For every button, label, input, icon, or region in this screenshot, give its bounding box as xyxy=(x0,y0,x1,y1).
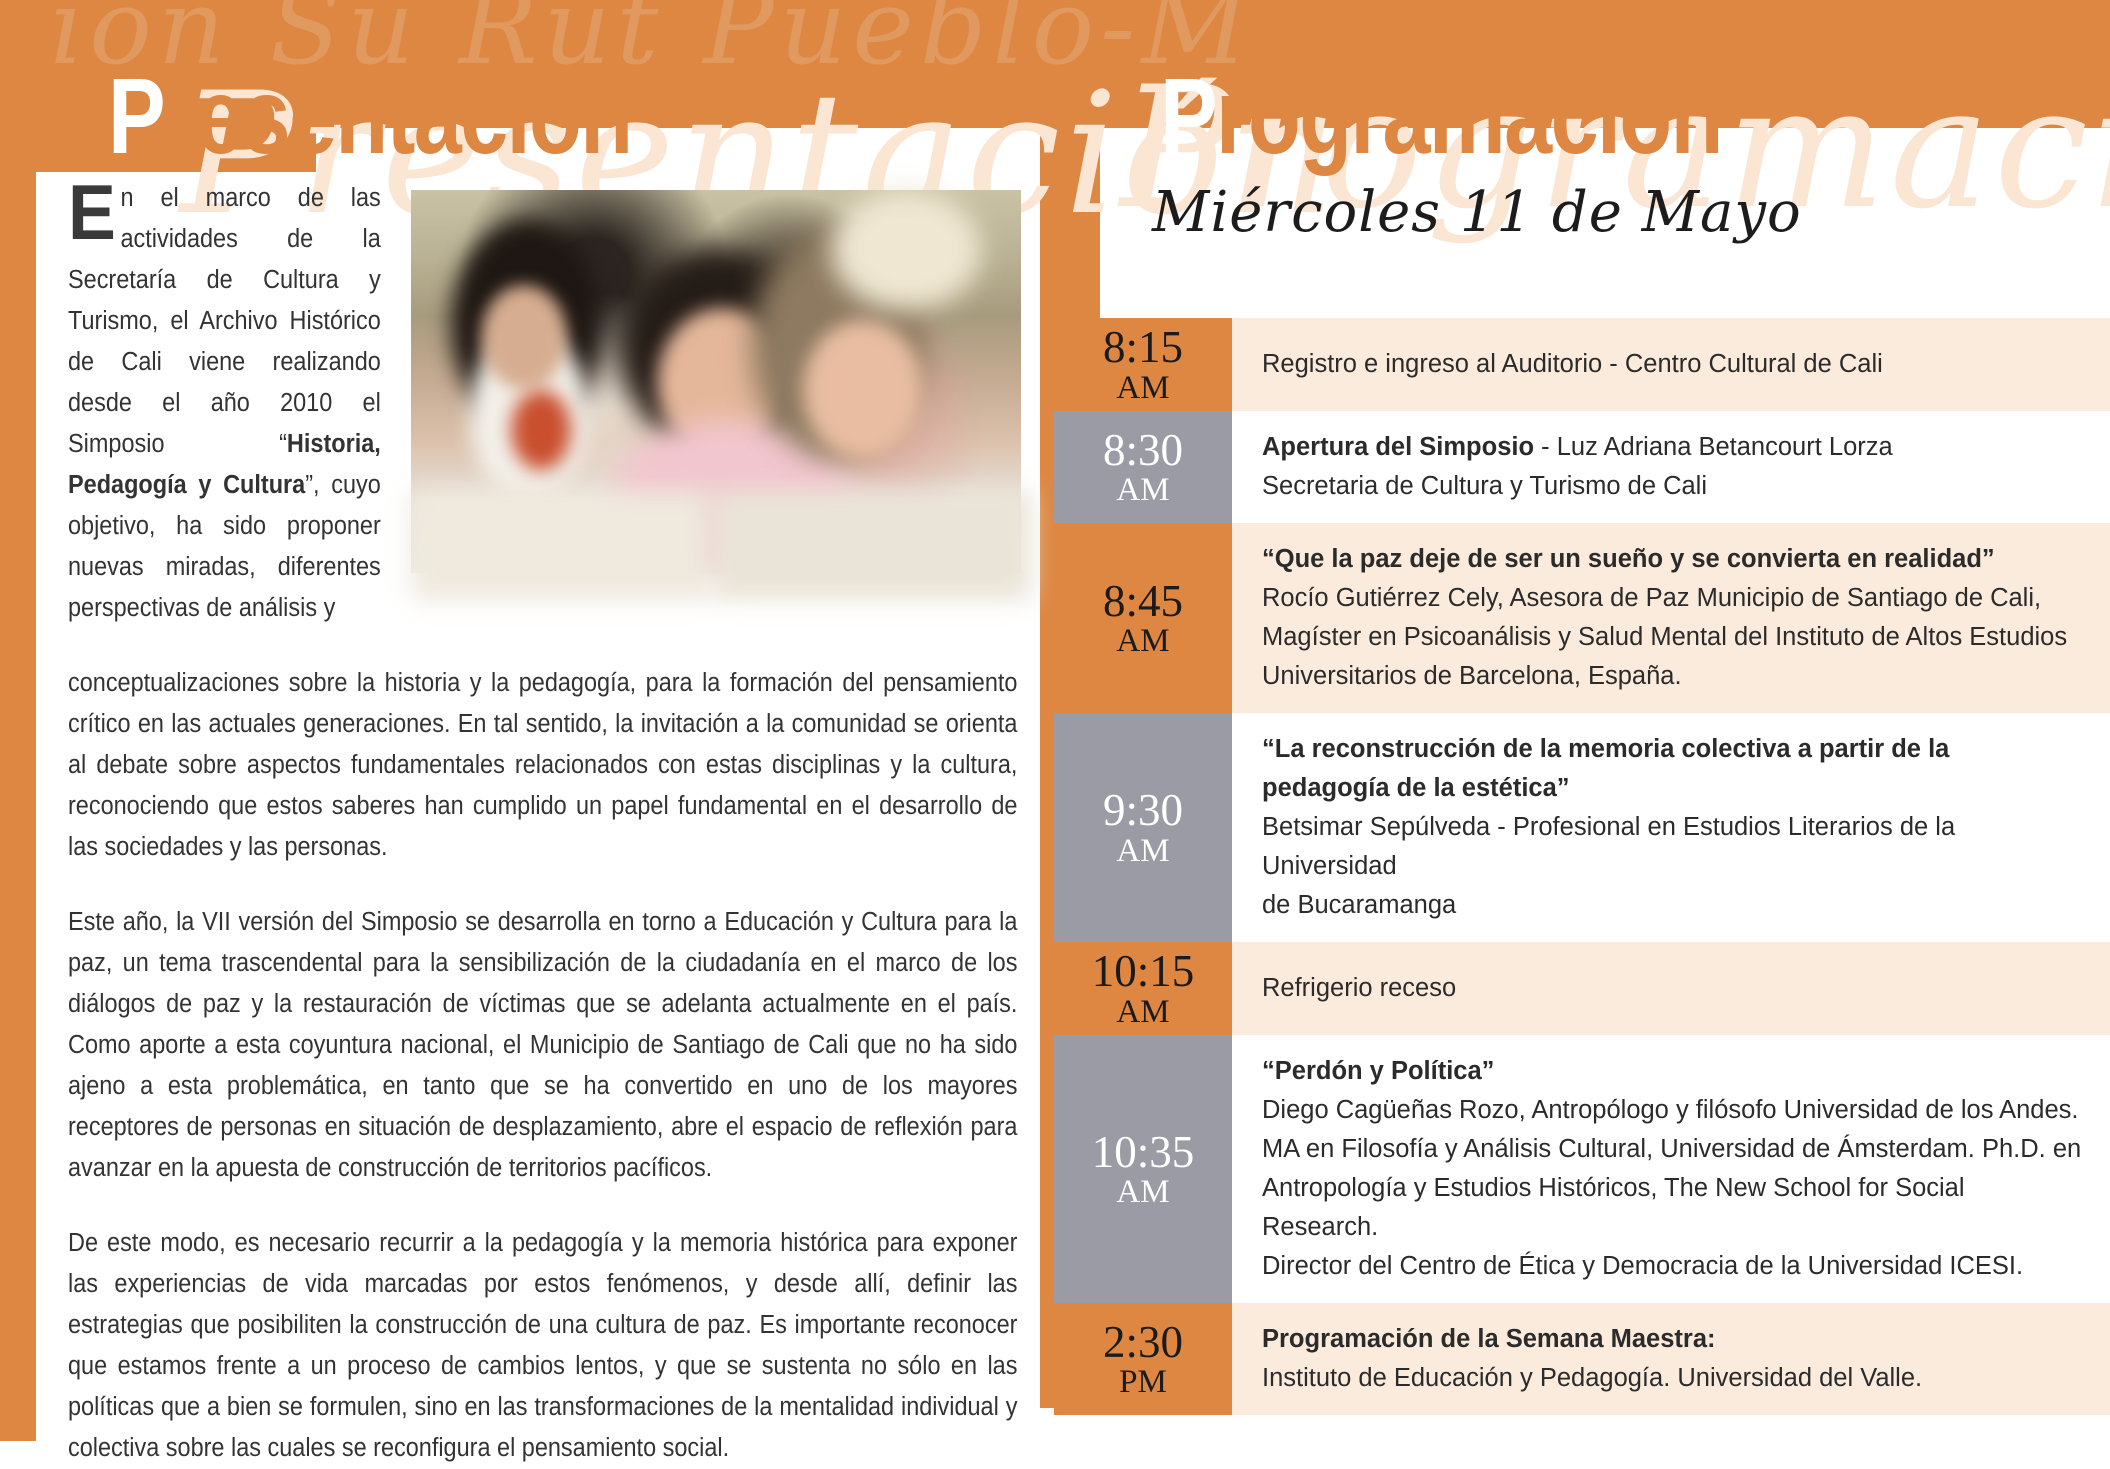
schedule-row: 2:30PMProgramación de la Semana Maestra:… xyxy=(1054,1303,2110,1415)
schedule-meridiem: AM xyxy=(1116,624,1169,658)
schedule-description-cell: “Perdón y Política”Diego Cagüeñas Rozo, … xyxy=(1232,1035,2110,1303)
title-rest-presentacion: resentación xyxy=(164,55,631,176)
schedule-hour: 2:30 xyxy=(1103,1319,1183,1366)
schedule-line-title: Programación de la Semana Maestra: xyxy=(1262,1325,1716,1353)
schedule-line: Universitarios de Barcelona, España. xyxy=(1262,657,2084,696)
schedule-line-title: “Perdón y Política” xyxy=(1262,1057,1494,1085)
paragraph-3: Este año, la VII versión del Simposio se… xyxy=(68,902,1017,1189)
schedule-line-text: de Bucaramanga xyxy=(1262,891,1456,919)
schedule-line: Director del Centro de Ética y Democraci… xyxy=(1262,1247,2084,1286)
schedule-line: “Que la paz deje de ser un sueño y se co… xyxy=(1262,540,2084,579)
schedule-description-lines: Registro e ingreso al Auditorio - Centro… xyxy=(1262,345,1883,384)
schedule-meridiem: PM xyxy=(1119,1365,1167,1399)
schedule-line: Diego Cagüeñas Rozo, Antropólogo y filós… xyxy=(1262,1091,2084,1130)
schedule-line: Programación de la Semana Maestra: xyxy=(1262,1320,2084,1359)
page-title-presentacion: Presentación xyxy=(108,62,631,170)
schedule-line: Antropología y Estudios Históricos, The … xyxy=(1262,1169,2084,1247)
schedule-line: “La reconstrucción de la memoria colecti… xyxy=(1262,730,2084,769)
schedule-description-cell: Registro e ingreso al Auditorio - Centro… xyxy=(1232,318,2110,411)
title-initial-p: P xyxy=(108,55,164,176)
schedule-line-title: “Que la paz deje de ser un sueño y se co… xyxy=(1262,545,1995,573)
schedule-line: Apertura del Simposio - Luz Adriana Beta… xyxy=(1262,428,2084,467)
schedule-hour: 9:30 xyxy=(1103,787,1183,834)
schedule-description-lines: “Que la paz deje de ser un sueño y se co… xyxy=(1262,540,2084,696)
schedule-hour: 10:35 xyxy=(1092,1129,1195,1176)
schedule-description-lines: “La reconstrucción de la memoria colecti… xyxy=(1262,730,2084,925)
schedule-line: Refrigerio receso xyxy=(1262,969,1456,1008)
event-date: Miércoles 11 de Mayo xyxy=(1152,180,2070,245)
schedule-line-text: Secretaria de Cultura y Turismo de Cali xyxy=(1262,472,1707,500)
schedule-line-text: Refrigerio receso xyxy=(1262,974,1456,1002)
schedule-time-cell: 8:45AM xyxy=(1054,523,1232,713)
schedule-row: 10:35AM“Perdón y Política”Diego Cagüeñas… xyxy=(1054,1035,2110,1303)
schedule-meridiem: AM xyxy=(1116,834,1169,868)
schedule-description-cell: Programación de la Semana Maestra:Instit… xyxy=(1232,1303,2110,1415)
schedule-line-text: Betsimar Sepúlveda - Profesional en Estu… xyxy=(1262,813,1955,880)
schedule-time-cell: 8:30AM xyxy=(1054,411,1232,523)
schedule-hour: 10:15 xyxy=(1092,948,1195,995)
schedule-line-text: Director del Centro de Ética y Democraci… xyxy=(1262,1252,2023,1280)
schedule-line: Instituto de Educación y Pedagogía. Univ… xyxy=(1262,1359,2084,1398)
schedule-hour: 8:15 xyxy=(1103,324,1183,371)
schedule-description-cell: “La reconstrucción de la memoria colecti… xyxy=(1232,713,2110,942)
schedule-description-cell: “Que la paz deje de ser un sueño y se co… xyxy=(1232,523,2110,713)
schedule-meridiem: AM xyxy=(1116,995,1169,1029)
schedule-time-cell: 9:30AM xyxy=(1054,713,1232,942)
schedule-hour: 8:45 xyxy=(1103,578,1183,625)
schedule-line: Betsimar Sepúlveda - Profesional en Estu… xyxy=(1262,808,2084,886)
schedule-line: MA en Filosofía y Análisis Cultural, Uni… xyxy=(1262,1130,2084,1169)
schedule-meridiem: AM xyxy=(1116,371,1169,405)
paragraph-2: conceptualizaciones sobre la historia y … xyxy=(68,663,1017,868)
dropcap-letter: E xyxy=(68,180,116,244)
schedule-row: 8:45AM“Que la paz deje de ser un sueño y… xyxy=(1054,523,2110,713)
programacion-column: Miércoles 11 de Mayo xyxy=(1110,150,2070,245)
schedule-table: 8:15AMRegistro e ingreso al Auditorio - … xyxy=(1054,318,2110,1415)
schedule-row: 10:15AMRefrigerio receso xyxy=(1054,942,2110,1035)
presentation-column: En el marco de las actividades de la Sec… xyxy=(68,178,1018,1469)
schedule-time-cell: 10:15AM xyxy=(1054,942,1232,1035)
schedule-line: Secretaria de Cultura y Turismo de Cali xyxy=(1262,467,2084,506)
schedule-meridiem: AM xyxy=(1116,473,1169,507)
schedule-description-cell: Refrigerio receso xyxy=(1232,942,2110,1035)
schedule-line-text: Diego Cagüeñas Rozo, Antropólogo y filós… xyxy=(1262,1096,2079,1124)
schedule-line-text: - Luz Adriana Betancourt Lorza xyxy=(1534,433,1893,461)
schedule-row: 8:30AMApertura del Simposio - Luz Adrian… xyxy=(1054,411,2110,523)
schedule-description-lines: Programación de la Semana Maestra:Instit… xyxy=(1262,1320,2084,1398)
classroom-photo xyxy=(411,190,1021,573)
schedule-meridiem: AM xyxy=(1116,1175,1169,1209)
schedule-line-title: “La reconstrucción de la memoria colecti… xyxy=(1262,735,1949,763)
schedule-line: pedagogía de la estética” xyxy=(1262,769,2084,808)
schedule-line: Registro e ingreso al Auditorio - Centro… xyxy=(1262,345,1883,384)
schedule-line-text: Registro e ingreso al Auditorio - Centro… xyxy=(1262,350,1883,378)
schedule-time-cell: 10:35AM xyxy=(1054,1035,1232,1303)
schedule-line-title: Apertura del Simposio xyxy=(1262,433,1534,461)
schedule-line-text: Universitarios de Barcelona, España. xyxy=(1262,662,1682,690)
schedule-line-text: Rocío Gutiérrez Cely, Asesora de Paz Mun… xyxy=(1262,584,2041,612)
schedule-time-cell: 2:30PM xyxy=(1054,1303,1232,1415)
schedule-line: Magíster en Psicoanálisis y Salud Mental… xyxy=(1262,618,2084,657)
schedule-line-text: MA en Filosofía y Análisis Cultural, Uni… xyxy=(1262,1135,2081,1163)
schedule-line: “Perdón y Política” xyxy=(1262,1052,2084,1091)
left-edge-stripe xyxy=(0,0,36,1441)
schedule-description-lines: Apertura del Simposio - Luz Adriana Beta… xyxy=(1262,428,2084,506)
schedule-time-cell: 8:15AM xyxy=(1054,318,1232,411)
schedule-line-text: Instituto de Educación y Pedagogía. Univ… xyxy=(1262,1364,1922,1392)
schedule-line: de Bucaramanga xyxy=(1262,886,2084,925)
paragraph-4: De este modo, es necesario recurrir a la… xyxy=(68,1223,1017,1469)
schedule-description-lines: “Perdón y Política”Diego Cagüeñas Rozo, … xyxy=(1262,1052,2084,1286)
schedule-hour: 8:30 xyxy=(1103,427,1183,474)
schedule-row: 8:15AMRegistro e ingreso al Auditorio - … xyxy=(1054,318,2110,411)
schedule-line-text: Antropología y Estudios Históricos, The … xyxy=(1262,1174,1965,1241)
schedule-line-title: pedagogía de la estética” xyxy=(1262,774,1570,802)
schedule-description-cell: Apertura del Simposio - Luz Adriana Beta… xyxy=(1232,411,2110,523)
schedule-line-text: Magíster en Psicoanálisis y Salud Mental… xyxy=(1262,623,2067,651)
schedule-description-lines: Refrigerio receso xyxy=(1262,969,1456,1008)
schedule-line: Rocío Gutiérrez Cely, Asesora de Paz Mun… xyxy=(1262,579,2084,618)
intro-paragraph: En el marco de las actividades de la Sec… xyxy=(68,178,381,629)
schedule-row: 9:30AM“La reconstrucción de la memoria c… xyxy=(1054,713,2110,942)
